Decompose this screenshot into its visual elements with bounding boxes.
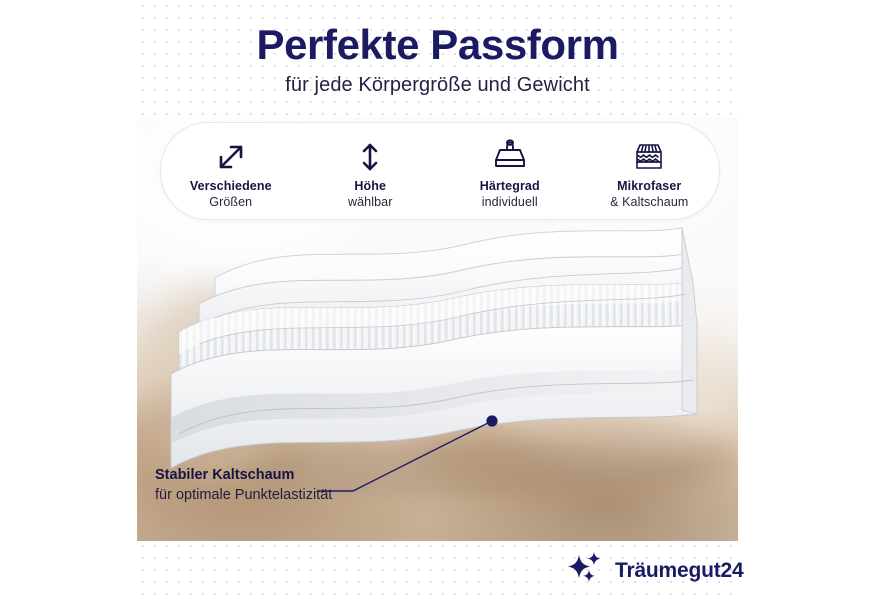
page-title: Perfekte Passform <box>137 24 738 66</box>
brand-name: Träumegut24 <box>615 559 744 583</box>
feature-label-line2: Größen <box>209 194 252 210</box>
headline-block: Perfekte Passform für jede Körpergröße u… <box>137 24 738 95</box>
feature-label-line1: Höhe <box>354 179 386 193</box>
callout-block: Stabiler Kaltschaum für optimale Punktel… <box>155 466 332 504</box>
sparkle-stars-icon <box>566 551 606 590</box>
mattress-firmness-press-icon <box>487 136 533 174</box>
product-marketing-banner: Perfekte Passform für jede Körpergröße u… <box>0 0 875 600</box>
feature-label-line2: individuell <box>482 194 538 210</box>
feature-verschiedene-groessen: Verschiedene Größen <box>166 132 296 211</box>
feature-haertegrad-individuell: Härtegrad individuell <box>445 132 575 211</box>
page-subtitle: für jede Körpergröße und Gewicht <box>137 75 738 95</box>
callout-title: Stabiler Kaltschaum <box>155 466 332 484</box>
feature-label-line1: Härtegrad <box>480 179 540 193</box>
feature-mikrofaser-kaltschaum: Mikrofaser & Kaltschaum <box>584 132 714 211</box>
feature-label-line2: wählbar <box>348 194 392 210</box>
feature-hoehe-waehlbar: Höhe wählbar <box>305 132 435 211</box>
brand-logo: Träumegut24 <box>566 551 744 590</box>
layered-mattress-icon <box>629 136 669 174</box>
height-vertical-arrow-icon <box>353 136 387 174</box>
feature-label-line1: Mikrofaser <box>617 179 681 193</box>
feature-badge-bar: Verschiedene Größen Höhe wählbar <box>160 122 720 220</box>
callout-subtitle: für optimale Punktelastizität <box>155 486 332 504</box>
feature-label-line1: Verschiedene <box>190 179 272 193</box>
resize-diagonal-arrow-icon <box>214 136 248 174</box>
feature-label-line2: & Kaltschaum <box>610 194 688 210</box>
